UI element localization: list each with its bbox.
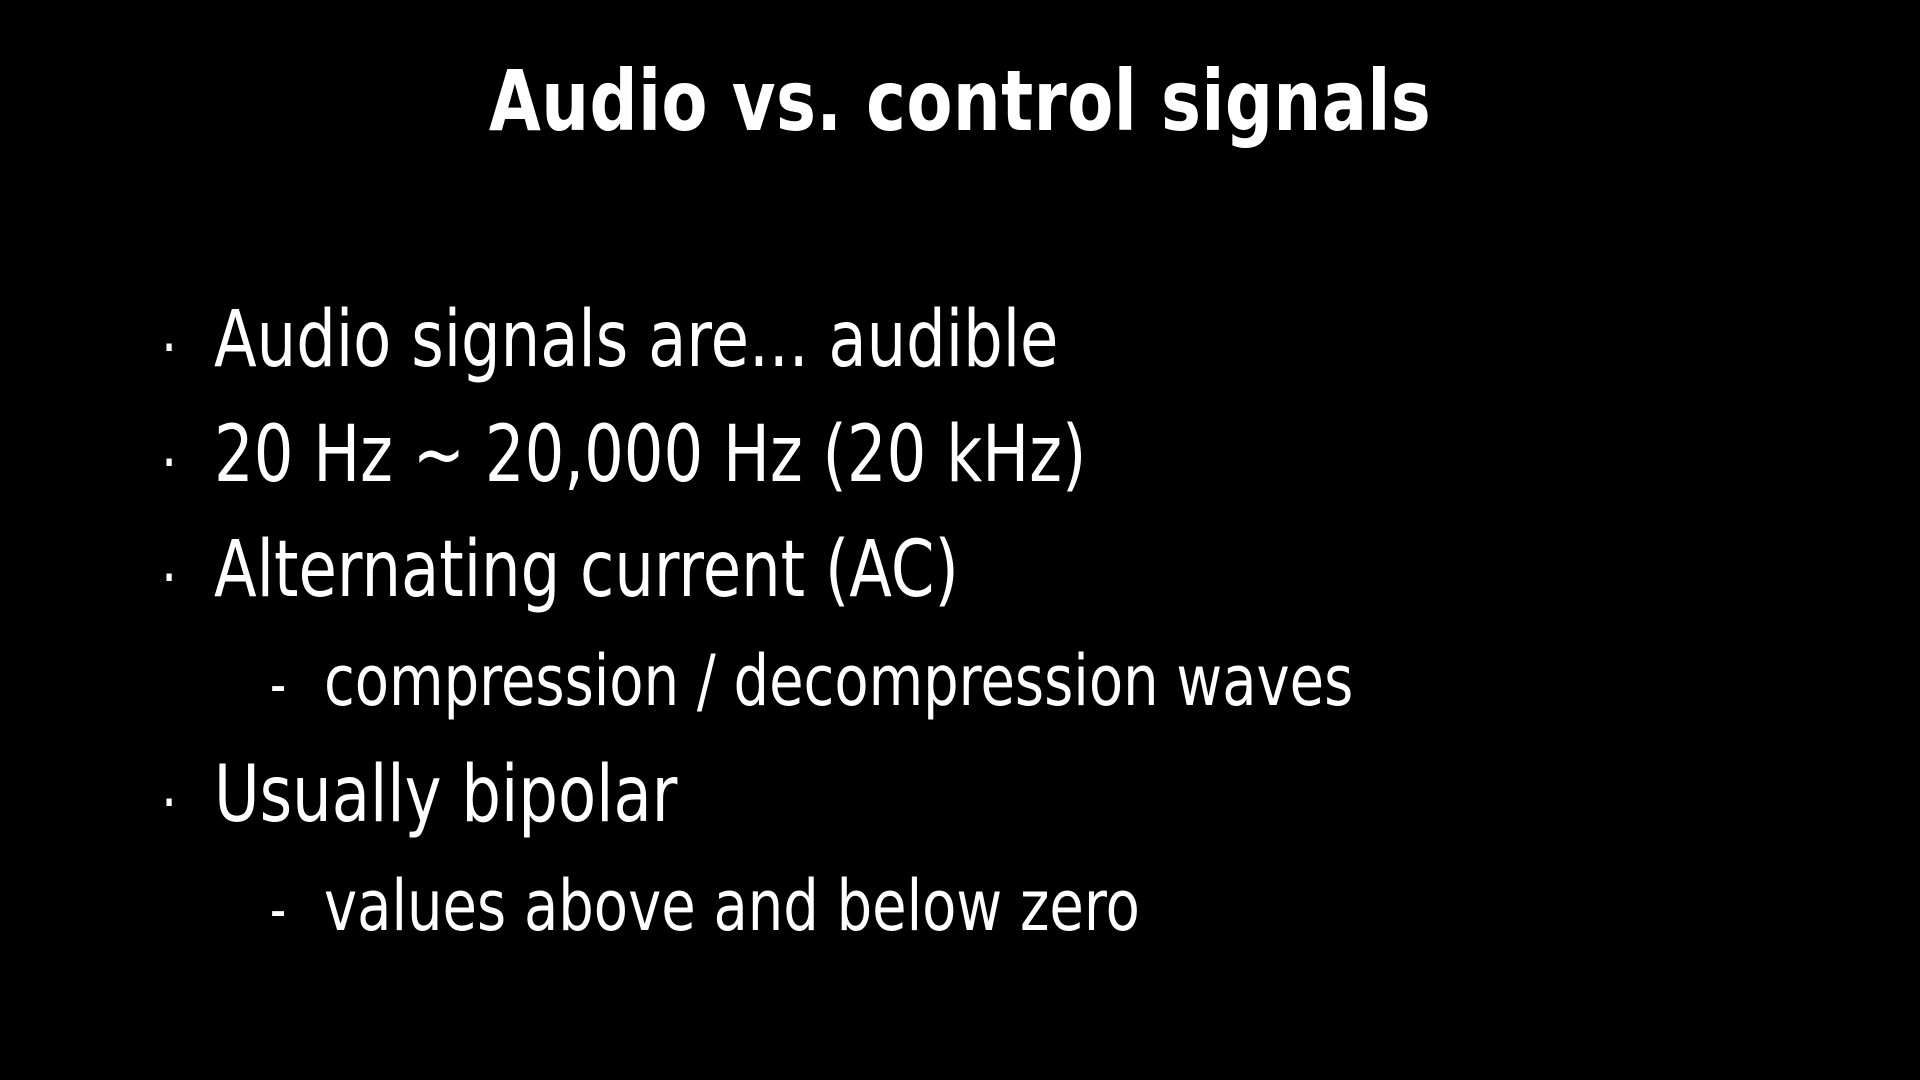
bullet-item-4: · Usually bipolar [160,747,1880,862]
presentation-slide: Audio vs. control signals · Audio signal… [0,0,1920,1080]
bullet-item-2: · 20 Hz ~ 20,000 Hz (20 kHz) [160,407,1880,522]
sub-bullet-item-1: - compression / decompression waves [160,637,1880,747]
bullet-item-1: · Audio signals are... audible [160,292,1880,407]
bullet-text: 20 Hz ~ 20,000 Hz (20 kHz) [214,407,1086,503]
bullet-text: Audio signals are... audible [214,292,1058,388]
bullet-dash-icon: - [270,879,312,941]
bullet-dot-icon: · [160,422,202,492]
sub-bullet-item-2: - values above and below zero [160,862,1880,972]
bullet-item-3: · Alternating current (AC) [160,522,1880,637]
bullet-dash-icon: - [270,654,312,716]
sub-bullet-text: compression / decompression waves [324,637,1353,725]
slide-title: Audio vs. control signals [192,52,1728,150]
bullet-dot-icon: · [160,537,202,607]
bullet-list: · Audio signals are... audible · 20 Hz ~… [160,292,1880,972]
bullet-text: Alternating current (AC) [214,522,959,618]
bullet-text: Usually bipolar [214,747,677,843]
bullet-dot-icon: · [160,307,202,377]
bullet-dot-icon: · [160,762,202,832]
sub-bullet-text: values above and below zero [324,862,1140,950]
